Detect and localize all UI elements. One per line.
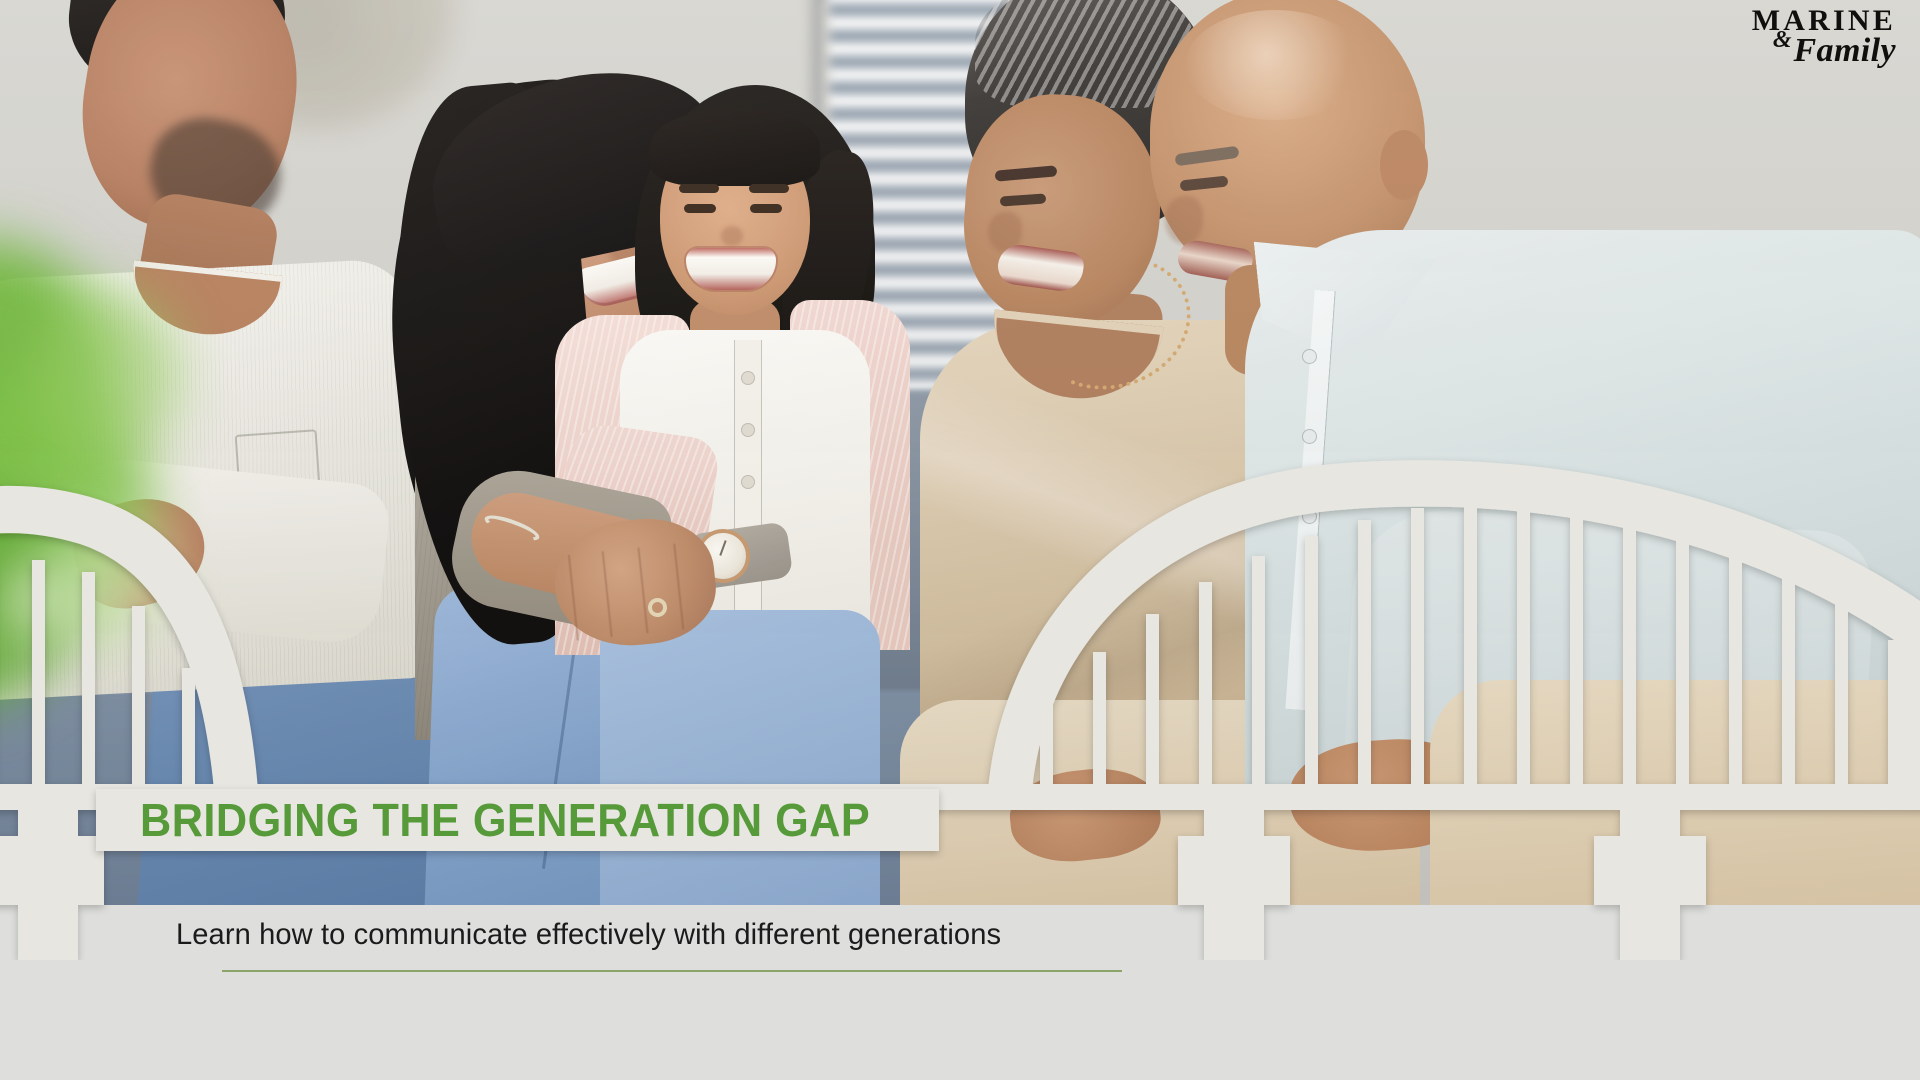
subtitle-block: Learn how to communicate effectively wit… [176,918,1122,972]
sofa-right-cushion [1430,680,1920,905]
grandfather-head-highlight [1185,10,1365,120]
multigenerational-family-photo [0,0,1920,905]
banner-canvas: BRIDGING THE GENERATION GAP Learn how to… [0,0,1920,1080]
headline-band: BRIDGING THE GENERATION GAP [96,789,939,851]
ampersand-icon: & [1773,27,1792,53]
grandfather-shirt-button [1303,350,1316,363]
page-title: BRIDGING THE GENERATION GAP [140,797,870,843]
brand-logo-second-line: &Family [1752,34,1896,68]
subtitle-underline [222,970,1122,972]
grandfather-ear [1380,130,1428,200]
grandfather-shirt-button [1303,430,1316,443]
brand-logo[interactable]: MARINE &Family [1752,6,1896,68]
grandfather-nose [1165,196,1203,244]
brand-logo-family-text: Family [1793,32,1896,69]
grandfather-shirt-button [1303,510,1316,523]
page-subtitle: Learn how to communicate effectively wit… [176,918,1094,952]
